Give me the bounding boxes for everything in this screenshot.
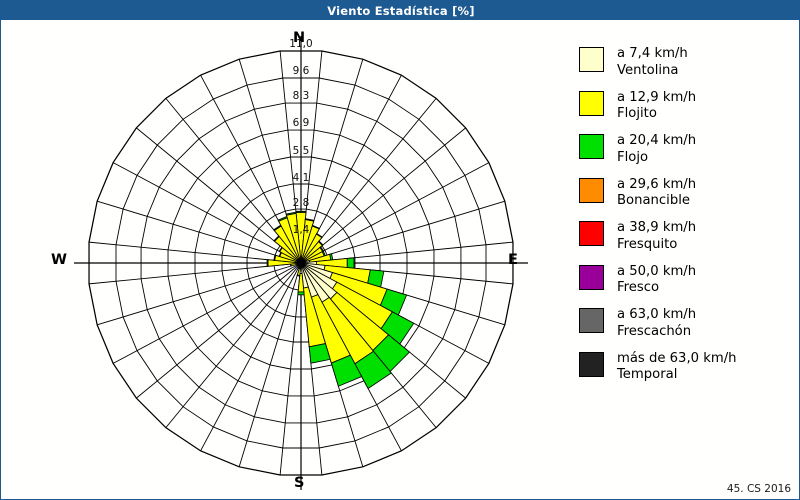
legend-name: Flojo [617,150,696,167]
legend-label: a 29,6 km/hBonancible [617,177,696,210]
legend-item[interactable]: a 50,0 km/hFresco [579,264,794,297]
legend-name: Fresquito [617,237,696,254]
legend-speed: a 50,0 km/h [617,264,696,279]
legend-name: Flojito [617,106,696,123]
grid-spoke [239,263,301,467]
grid-spoke [166,263,301,428]
legend-speed: a 20,4 km/h [617,133,696,148]
radial-tick-label: 5,5 [293,145,310,157]
legend-name: Frescachón [617,324,696,341]
rose-sector-flojo [298,268,299,269]
legend-item[interactable]: a 12,9 km/hFlojito [579,90,794,123]
grid-spoke [97,263,301,325]
rose-sector-flojo [297,275,300,276]
legend-item[interactable]: a 38,9 km/hFresquito [579,220,794,253]
legend-label: a 12,9 km/hFlojito [617,90,696,123]
compass-label-south: S [294,475,304,491]
legend-name: Temporal [617,367,737,384]
compass-label-east: E [508,252,518,268]
rose-sector-flojo [347,258,354,268]
legend-item[interactable]: a 7,4 km/hVentolina [579,46,794,79]
legend-item[interactable]: a 29,6 km/hBonancible [579,177,794,210]
rose-sector-flojo [296,211,306,212]
legend-color-swatch [579,352,604,377]
legend-speed: más de 63,0 km/h [617,351,737,366]
radial-tick-label: 9,6 [293,65,310,77]
legend-item[interactable]: más de 63,0 km/hTemporal [579,351,794,384]
legend-color-swatch [579,178,604,203]
footer-caption: 45. CS 2016 [727,483,791,495]
legend-label: a 50,0 km/hFresco [617,264,696,297]
window-title: Viento Estadística [%] [327,4,474,18]
legend-color-swatch [579,221,604,246]
rose-sector-flojo [267,260,268,267]
legend-label: a 20,4 km/hFlojo [617,133,696,166]
legend-speed: a 29,6 km/h [617,177,696,192]
legend-color-swatch [579,265,604,290]
legend-color-swatch [579,308,604,333]
rose-sectors [267,211,414,388]
radial-tick-label: 6,9 [293,117,310,129]
radial-tick-label: 11,0 [289,38,312,50]
compass-label-west: W [51,252,67,268]
grid-spoke [97,201,301,263]
legend-color-swatch [579,134,604,159]
legend-color-swatch [579,47,604,72]
radial-tick-label: 1,4 [293,224,310,236]
rose-sector-flojo [298,292,304,295]
window-title-bar: Viento Estadística [%] [1,1,800,20]
legend-label: a 7,4 km/hVentolina [617,46,688,79]
wind-statistics-window: Viento Estadística [%] N E S W 1,42,84,1… [0,0,800,500]
legend-label: a 38,9 km/hFresquito [617,220,696,253]
legend-speed: a 12,9 km/h [617,90,696,105]
legend-speed: a 7,4 km/h [617,46,688,61]
legend-speed: a 38,9 km/h [617,220,696,235]
legend-name: Bonancible [617,193,696,210]
legend-color-swatch [579,91,604,116]
radial-tick-label: 8,3 [293,90,310,102]
legend-item[interactable]: a 20,4 km/hFlojo [579,133,794,166]
legend-label: más de 63,0 km/hTemporal [617,351,737,384]
legend-item[interactable]: a 63,0 km/hFrescachón [579,307,794,340]
radial-tick-label: 4,1 [293,172,310,184]
legend: a 7,4 km/hVentolinaa 12,9 km/hFlojitoa 2… [579,46,794,394]
grid-spoke [301,128,466,263]
legend-speed: a 63,0 km/h [617,307,696,322]
legend-name: Fresco [617,280,696,297]
chart-canvas: N E S W 1,42,84,15,56,98,39,611,0 a 7,4 … [1,20,799,499]
radial-tick-label: 2,8 [293,197,310,209]
legend-label: a 63,0 km/hFrescachón [617,307,696,340]
grid-spoke [136,263,301,398]
legend-name: Ventolina [617,63,688,80]
